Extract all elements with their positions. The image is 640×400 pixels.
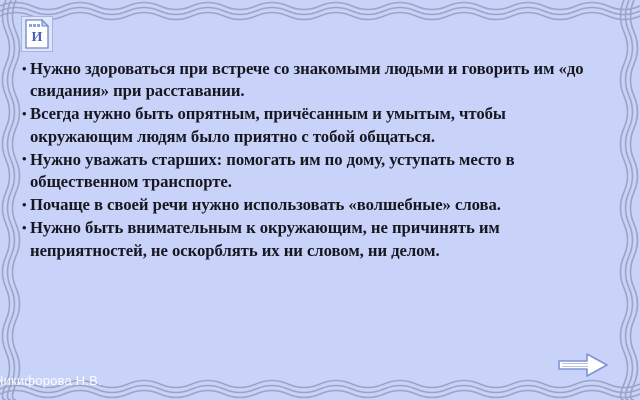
next-arrow-icon[interactable] <box>557 350 609 380</box>
list-item: Всегда нужно быть опрятным, причёсанным … <box>22 103 602 148</box>
list-item: Почаще в своей речи нужно использовать «… <box>22 194 602 216</box>
document-icon-letter: И <box>32 30 43 45</box>
list-item-text: Почаще в своей речи нужно использовать «… <box>30 195 501 214</box>
list-item-text: Нужно здороваться при встрече со знакомы… <box>30 59 584 100</box>
document-icon: И <box>21 16 53 52</box>
bullet-list: Нужно здороваться при встрече со знакомы… <box>22 58 602 263</box>
list-item: Нужно быть внимательным к окружающим, не… <box>22 217 602 262</box>
watermark-text: Никифорова Н.В. <box>0 373 102 388</box>
list-item-text: Нужно уважать старших: помогать им по до… <box>30 150 515 191</box>
list-item: Нужно здороваться при встрече со знакомы… <box>22 58 602 103</box>
list-item-text: Нужно быть внимательным к окружающим, не… <box>30 218 500 259</box>
list-item-text: Всегда нужно быть опрятным, причёсанным … <box>30 104 506 145</box>
list-item: Нужно уважать старших: помогать им по до… <box>22 149 602 194</box>
slide-canvas: И Нужно здороваться при встрече со знако… <box>0 0 640 400</box>
list-item-terminal-period: . <box>435 241 439 260</box>
